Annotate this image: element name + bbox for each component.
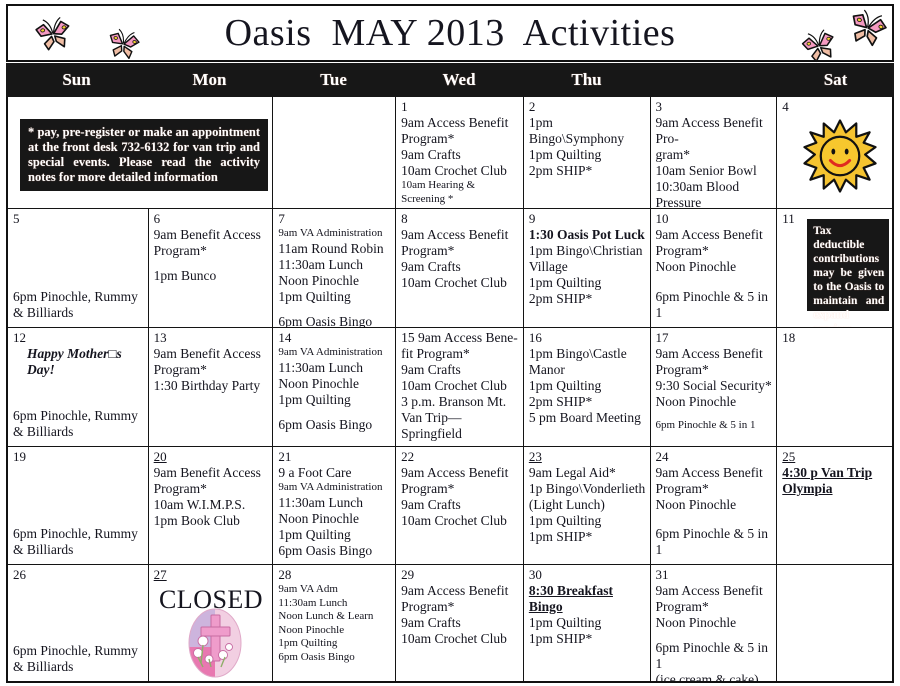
day-event: Program* <box>656 481 773 497</box>
weekday-header-thu: Thu <box>523 63 650 97</box>
calendar-day-cell-13[interactable]: 139am Benefit AccessProgram*1:30 Birthda… <box>149 328 274 447</box>
day-event: Noon Pinochle <box>278 624 391 638</box>
day-event: 9am VA Administration <box>278 227 391 241</box>
day-number: 14 <box>278 331 391 345</box>
day-event: 11am Round Robin <box>278 241 391 257</box>
day-number: 23 <box>529 450 646 464</box>
calendar-cell-empty <box>273 97 396 209</box>
day-event: 9am Access Benefit <box>656 465 773 481</box>
day-number: 4 <box>782 100 888 114</box>
butterfly-icon <box>841 4 893 53</box>
day-number: 30 <box>529 568 646 582</box>
calendar-week-row: 12Happy Mother□s Day!6pm Pinochle, Rummy… <box>8 328 892 447</box>
day-event: 6pm Pinochle & 5 in 1 <box>656 419 773 433</box>
tax-note-box: Tax deductible contributions may be give… <box>807 219 889 311</box>
day-event: Village <box>529 259 646 275</box>
calendar-day-cell-8[interactable]: 89am Access BenefitProgram*9am Crafts10a… <box>396 209 524 328</box>
day-event: Olympia <box>782 481 888 497</box>
day-number: 7 <box>278 212 391 226</box>
day-event: Program* <box>401 243 519 259</box>
day-event: fit Program* <box>401 346 519 362</box>
evening-activity: 6pm Pinochle, Rummy & Billiards <box>13 643 144 675</box>
day-event: 6pm Oasis Bingo <box>278 651 391 665</box>
day-number: 27 <box>154 568 269 582</box>
day-event: Noon Pinochle <box>656 259 773 275</box>
calendar-week-row: 56pm Pinochle, Rummy & Billiards69am Ben… <box>8 209 892 328</box>
calendar-day-cell-1[interactable]: 19am Access BenefitProgram*9am Crafts10a… <box>396 97 524 209</box>
day-event: 9 a Foot Care <box>278 465 391 481</box>
day-event: 11:30am Lunch <box>278 597 391 611</box>
calendar-day-cell-3[interactable]: 39am Access Benefit Pro-gram*10am Senior… <box>651 97 778 209</box>
day-event: Program* <box>154 243 269 259</box>
calendar-day-cell-10[interactable]: 109am Access BenefitProgram*Noon Pinochl… <box>651 209 778 328</box>
calendar-day-cell-6[interactable]: 69am Benefit AccessProgram*1pm Bunco <box>149 209 274 328</box>
day-event: 1:30 Birthday Party <box>154 378 269 394</box>
day-event: Noon Lunch & Learn <box>278 610 391 624</box>
day-event: 9am Access Benefit <box>401 227 519 243</box>
evening-activity: 6pm Pinochle & 5 in 1 <box>656 289 773 321</box>
day-number: 29 <box>401 568 519 582</box>
day-event: 1pm Quilting <box>278 527 391 543</box>
sun-icon <box>803 119 877 193</box>
day-number: 21 <box>278 450 391 464</box>
day-event: 1pm Quilting <box>529 615 646 631</box>
day-event: 9:30 Social Security* <box>656 378 773 394</box>
day-event <box>656 410 773 419</box>
evening-activity: 6pm Pinochle, Rummy & Billiards <box>13 289 144 321</box>
day-event: 11:30am Lunch <box>278 495 391 511</box>
cross-flowers-icon <box>185 607 245 679</box>
day-event: 8:30 Breakfast Bingo <box>529 583 646 615</box>
day-event: Program* <box>154 362 269 378</box>
day-event: 5 pm Board Meeting <box>529 410 646 426</box>
day-event: 9am Crafts <box>401 147 519 163</box>
day-event: Program* <box>656 599 773 615</box>
day-number: 16 <box>529 331 646 345</box>
weekday-header-mon: Mon <box>147 63 272 97</box>
day-event: 2pm SHIP* <box>529 163 646 179</box>
day-event: 10am Senior Bowl <box>656 163 773 179</box>
day-event: 2pm SHIP* <box>529 291 646 307</box>
day-event: 9am Access Benefit <box>401 115 519 131</box>
day-event <box>278 305 391 314</box>
page-title: Oasis MAY 2013 Activities <box>225 13 676 53</box>
day-event: 9am VA Adm <box>278 583 391 597</box>
day-event: 9am Access Benefit <box>656 227 773 243</box>
day-number: 19 <box>13 450 144 464</box>
day-event: 1p Bingo\Vonderlieth <box>529 481 646 497</box>
day-number: 17 <box>656 331 773 345</box>
calendar-day-cell-29[interactable]: 299am Access BenefitProgram*9am Crafts10… <box>396 565 524 681</box>
calendar-week-row: * pay, pre-register or make an appointme… <box>8 97 892 209</box>
calendar-page: Oasis MAY 2013 Activities <box>0 0 900 686</box>
calendar-title-banner: Oasis MAY 2013 Activities <box>6 4 894 62</box>
day-event: 1pm Quilting <box>278 637 391 651</box>
day-event: 9am Benefit Access <box>154 227 269 243</box>
calendar-day-cell-18[interactable]: 18 <box>777 328 892 447</box>
day-event: 1pm SHIP* <box>529 631 646 647</box>
calendar-day-cell-20[interactable]: 209am Benefit AccessProgram*10am W.I.M.P… <box>149 447 274 565</box>
day-number: 28 <box>278 568 391 582</box>
day-event: 9am Legal Aid* <box>529 465 646 481</box>
butterfly-icon <box>102 25 144 64</box>
day-number: 12 <box>13 331 144 345</box>
weekday-header-sun: Sun <box>6 63 147 97</box>
day-event: 1pm Quilting <box>529 147 646 163</box>
day-number: 5 <box>13 212 144 226</box>
day-event: 9am Crafts <box>401 259 519 275</box>
day-number: 25 <box>782 450 888 464</box>
day-event: 11:30am Lunch <box>278 360 391 376</box>
day-event: 1pm Quilting <box>278 392 391 408</box>
day-number: 8 <box>401 212 519 226</box>
calendar-day-cell-17[interactable]: 179am Access BenefitProgram*9:30 Social … <box>651 328 778 447</box>
day-event: 9am Crafts <box>401 497 519 513</box>
day-event: 9am Access Benefit Pro- <box>656 115 773 147</box>
day-event: 1pm Quilting <box>529 275 646 291</box>
day-event: 9am Access Benefit <box>401 583 519 599</box>
weekday-header-row: Sun Mon Tue Wed Thu Sat <box>6 63 894 97</box>
day-event: 9am Benefit Access <box>154 346 269 362</box>
day-event: 9am VA Administration <box>278 481 391 495</box>
evening-activity: 6pm Pinochle & 5 in 1 <box>656 526 773 558</box>
day-number: 1 <box>401 100 519 114</box>
calendar-day-cell-5[interactable]: 56pm Pinochle, Rummy & Billiards <box>8 209 149 328</box>
day-number: 6 <box>154 212 269 226</box>
day-event: Manor <box>529 362 646 378</box>
calendar-day-cell-2[interactable]: 21pm Bingo\Symphony1pm Quilting2pm SHIP* <box>524 97 651 209</box>
calendar-day-cell-28[interactable]: 289am VA Adm11:30am LunchNoon Lunch & Le… <box>273 565 396 681</box>
day-event: (Light Lunch) <box>529 497 646 513</box>
weekday-header-sat: Sat <box>777 63 894 97</box>
day-number: 2 <box>529 100 646 114</box>
calendar-day-cell-16[interactable]: 161pm Bingo\CastleManor1pm Quilting2pm S… <box>524 328 651 447</box>
asterisk-note-box: * pay, pre-register or make an appointme… <box>20 119 268 191</box>
day-event: 9am Crafts <box>401 615 519 631</box>
day-event: 1pm Bingo\Symphony <box>529 115 646 147</box>
day-event: 6pm Oasis Bingo <box>278 543 391 559</box>
day-number: 26 <box>13 568 144 582</box>
day-number: 13 <box>154 331 269 345</box>
calendar-day-cell-19[interactable]: 196pm Pinochle, Rummy & Billiards <box>8 447 149 565</box>
day-event: 2pm SHIP* <box>529 394 646 410</box>
day-event: 10am Crochet Club <box>401 163 519 179</box>
calendar-day-cell-26[interactable]: 266pm Pinochle, Rummy & Billiards <box>8 565 149 681</box>
day-event: 1pm Quilting <box>529 378 646 394</box>
calendar-day-cell-21[interactable]: 219 a Foot Care9am VA Administration11:3… <box>273 447 396 565</box>
calendar-week-row: 266pm Pinochle, Rummy & Billiards27CLOSE… <box>8 565 892 681</box>
day-event: 6pm Oasis Bingo <box>278 417 391 433</box>
calendar-day-cell-15[interactable]: 15 9am Access Bene-fit Program*9am Craft… <box>396 328 524 447</box>
day-event: Noon Pinochle <box>656 615 773 631</box>
weekday-header-wed: Wed <box>395 63 523 97</box>
calendar-day-cell-9[interactable]: 91:30 Oasis Pot Luck1pm Bingo\ChristianV… <box>524 209 651 328</box>
day-event: 10am Crochet Club <box>401 631 519 647</box>
butterfly-icon <box>31 14 76 55</box>
day-number: 9 <box>529 212 646 226</box>
day-event: 9am VA Administration <box>278 346 391 360</box>
calendar-cell-note: * pay, pre-register or make an appointme… <box>8 97 273 209</box>
day-event: 6pm Pinochle & 5 in 1 <box>656 640 773 672</box>
day-event: 9am Crafts <box>401 362 519 378</box>
calendar-day-cell-12[interactable]: 12Happy Mother□s Day!6pm Pinochle, Rummy… <box>8 328 149 447</box>
day-event: 9am Access Benefit <box>656 346 773 362</box>
calendar-day-cell-23[interactable]: 239am Legal Aid*1p Bingo\Vonderlieth(Lig… <box>524 447 651 565</box>
calendar-day-cell-27[interactable]: 27CLOSED <box>149 565 274 681</box>
day-number: 20 <box>154 450 269 464</box>
day-event: (ice cream & cake) <box>656 672 773 681</box>
calendar-week-row: 196pm Pinochle, Rummy & Billiards209am B… <box>8 447 892 565</box>
day-event: 11:30am Lunch <box>278 257 391 273</box>
day-event <box>656 631 773 640</box>
day-event: Program* <box>656 362 773 378</box>
day-event <box>154 259 269 268</box>
day-event: 1pm Bunco <box>154 268 269 284</box>
calendar-cell-empty <box>777 565 892 681</box>
day-number: 24 <box>656 450 773 464</box>
day-event: 10am W.I.M.P.S. <box>154 497 269 513</box>
day-event: 6pm Oasis Bingo <box>278 314 391 329</box>
evening-activity: 6pm Pinochle, Rummy & Billiards <box>13 526 144 558</box>
day-event: Noon Pinochle <box>656 394 773 410</box>
day-event: 1pm Book Club <box>154 513 269 529</box>
weekday-header-tue: Tue <box>272 63 395 97</box>
day-number: 3 <box>656 100 773 114</box>
day-event: Van Trip—Springfield <box>401 410 519 442</box>
day-event: 10am Crochet Club <box>401 513 519 529</box>
day-event: 1pm SHIP* <box>529 529 646 545</box>
day-event: 1pm Bingo\Castle <box>529 346 646 362</box>
calendar-day-cell-7[interactable]: 79am VA Administration11am Round Robin11… <box>273 209 396 328</box>
day-event: Noon Pinochle <box>278 273 391 289</box>
day-event: Noon Pinochle <box>278 376 391 392</box>
calendar-day-cell-11[interactable]: 11Tax deductible contributions may be gi… <box>777 209 892 328</box>
day-event: 15 9am Access Bene- <box>401 330 519 346</box>
day-event: Noon Pinochle <box>278 511 391 527</box>
day-event: 10am Hearing & Screening * <box>401 179 519 206</box>
day-event <box>278 408 391 417</box>
day-event: Happy Mother□s Day! <box>13 346 144 378</box>
day-event: 1:30 Oasis Pot Luck <box>529 227 646 243</box>
evening-activity: 6pm Pinochle, Rummy & Billiards <box>13 408 144 440</box>
day-event: 9am Access Benefit <box>656 583 773 599</box>
day-event: 1pm Quilting <box>529 513 646 529</box>
weekday-header-fri <box>650 63 777 97</box>
day-event: Program* <box>401 131 519 147</box>
day-number: 22 <box>401 450 519 464</box>
day-number: 10 <box>656 212 773 226</box>
day-event: 9am Access Benefit <box>401 465 519 481</box>
day-event: 3 p.m. Branson Mt. <box>401 394 519 410</box>
calendar-day-cell-22[interactable]: 229am Access BenefitProgram*9am Crafts10… <box>396 447 524 565</box>
calendar-grid: * pay, pre-register or make an appointme… <box>6 97 894 683</box>
calendar-day-cell-24[interactable]: 249am Access BenefitProgram*Noon Pinochl… <box>651 447 778 565</box>
day-event: 10am Crochet Club <box>401 275 519 291</box>
day-event: 9am Benefit Access <box>154 465 269 481</box>
day-event: 1pm Quilting <box>278 289 391 305</box>
butterfly-icon <box>797 26 842 68</box>
day-event: 10am Crochet Club <box>401 378 519 394</box>
day-event: Program* <box>401 599 519 615</box>
day-event: 10:30am Blood Pressure <box>656 179 773 209</box>
calendar-day-cell-14[interactable]: 149am VA Administration11:30am LunchNoon… <box>273 328 396 447</box>
calendar-day-cell-4[interactable]: 4 <box>777 97 892 209</box>
calendar-day-cell-31[interactable]: 319am Access BenefitProgram*Noon Pinochl… <box>651 565 778 681</box>
day-event: Noon Pinochle <box>656 497 773 513</box>
day-event: Program* <box>154 481 269 497</box>
day-number: 18 <box>782 331 888 345</box>
day-event: 1pm Bingo\Christian <box>529 243 646 259</box>
day-event: gram* <box>656 147 773 163</box>
day-event: Program* <box>401 481 519 497</box>
day-event: 4:30 p Van Trip <box>782 465 888 481</box>
calendar-day-cell-30[interactable]: 308:30 Breakfast Bingo1pm Quilting1pm SH… <box>524 565 651 681</box>
day-number: 31 <box>656 568 773 582</box>
day-event: Program* <box>656 243 773 259</box>
calendar-day-cell-25[interactable]: 254:30 p Van TripOlympia <box>777 447 892 565</box>
